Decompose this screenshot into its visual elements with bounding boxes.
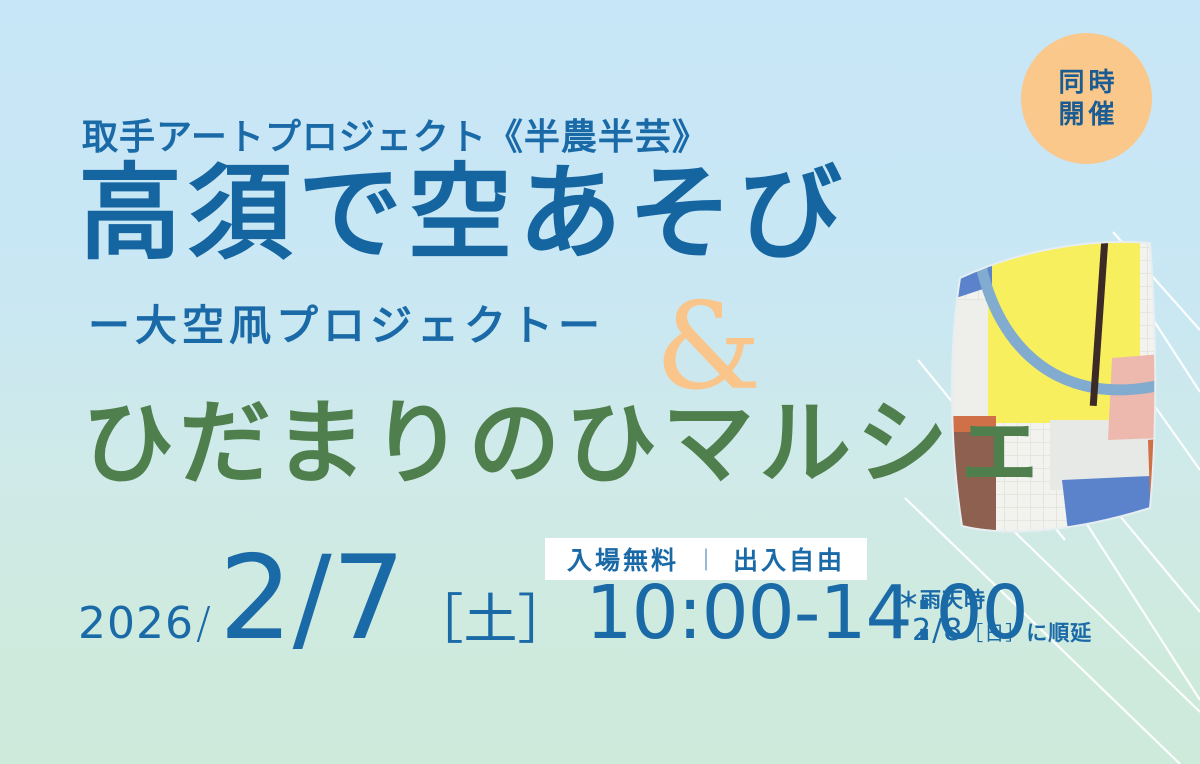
rain-note-suffix: に順延 — [1026, 621, 1092, 645]
schedule-year-slash: / — [196, 598, 211, 649]
simultaneous-event-badge: 同時 開催 — [1021, 33, 1152, 164]
second-event-title: ひだまりのひマルシェ — [82, 398, 1050, 490]
badge-line-2: 開催 — [1054, 102, 1118, 128]
event-subtitle: ー大空凧プロジェクトー — [88, 305, 605, 347]
rain-note-line-2: 2/8［日］に順延 — [912, 613, 1092, 648]
schedule-date: 2/7 — [219, 541, 406, 657]
event-title: 高須で空あそび — [78, 161, 848, 265]
rain-note-date: 2/8 — [912, 613, 963, 648]
schedule-day-of-week: ［土］ — [410, 575, 572, 654]
kite-illustration — [900, 208, 1190, 548]
rain-note-line-1: ＊雨天時 — [898, 588, 1092, 613]
badge-line-1: 同時 — [1054, 70, 1118, 96]
rain-postponement-note: ＊雨天時 2/8［日］に順延 — [898, 588, 1092, 648]
poster-canvas: 同時 開催 取手アートプロジェクト《半農半芸》 高須で空あそび ー大空凧プロジェ… — [0, 0, 1200, 764]
rain-note-day-of-week: ［日］ — [963, 621, 1026, 645]
schedule-line: 2026 / 2/7 ［土］ 10:00-14:00 — [78, 541, 1028, 657]
schedule-year: 2026 — [78, 598, 194, 649]
